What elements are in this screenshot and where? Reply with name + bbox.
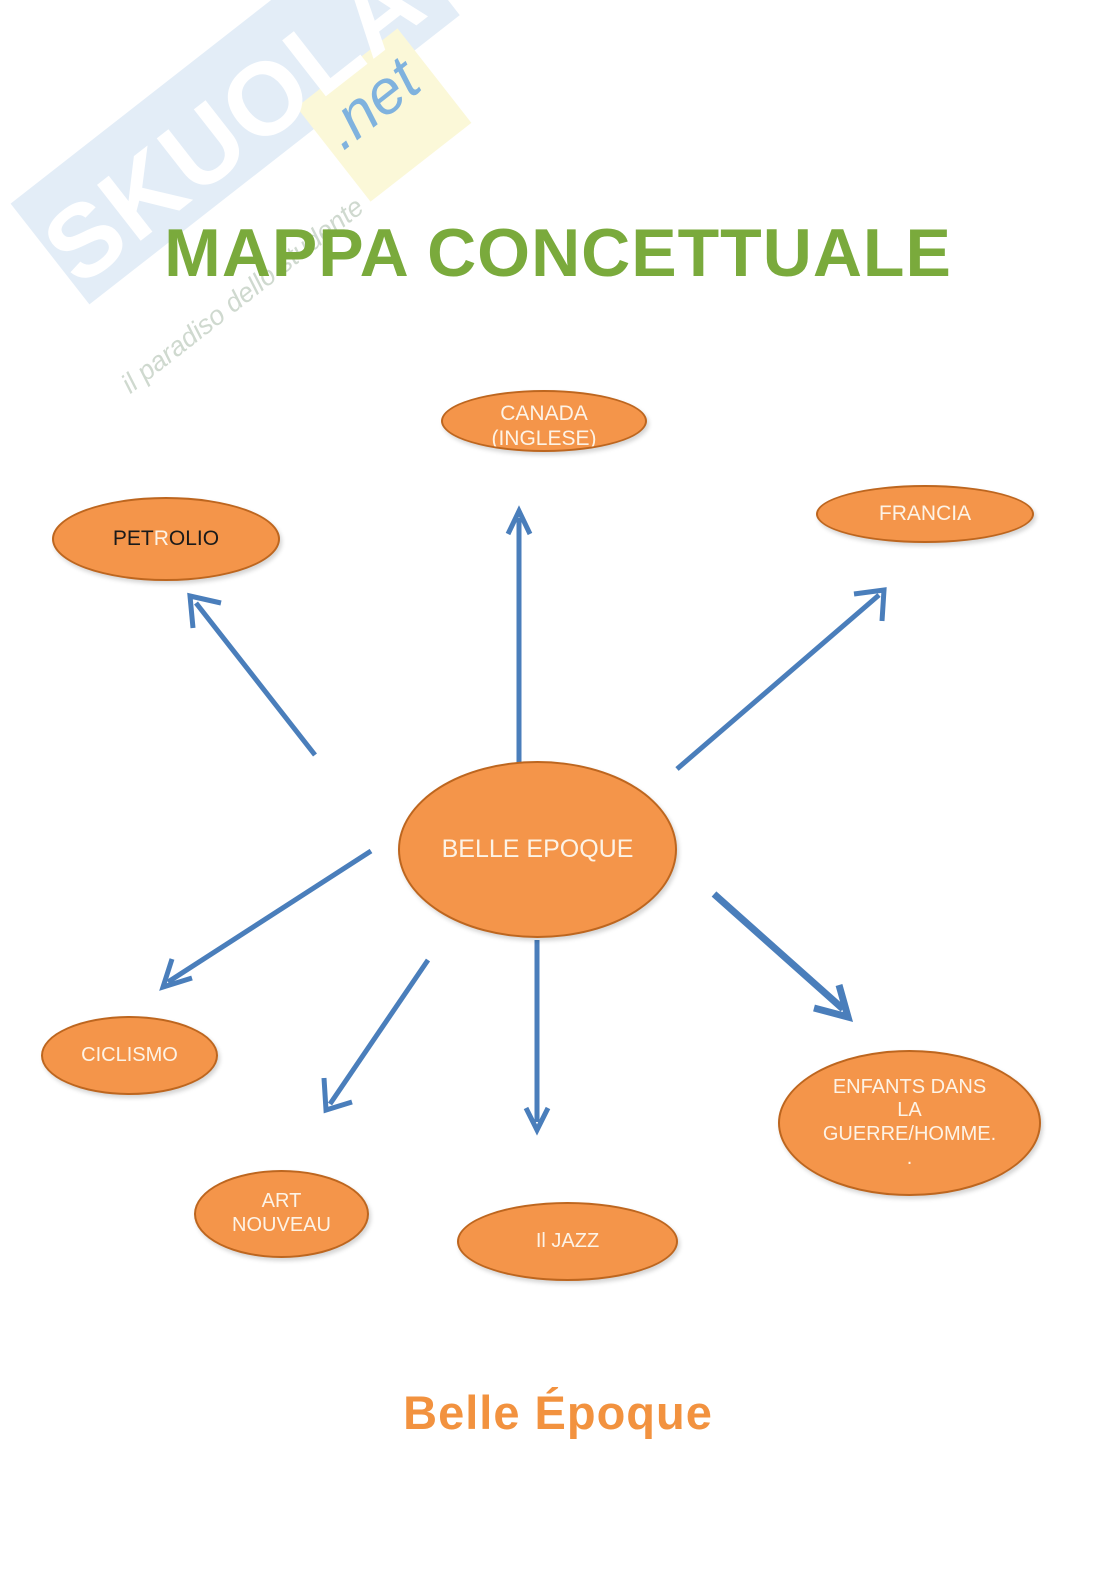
node-enfants-label: ENFANTS DANS LA GUERRE/HOMME. . (817, 1076, 1002, 1170)
node-art-nouveau[interactable]: ART NOUVEAU (194, 1170, 369, 1258)
node-enfants-line-4: . (907, 1147, 913, 1169)
node-petrolio[interactable]: PETROLIO (52, 497, 280, 581)
node-petrolio-label: PETROLIO (107, 527, 225, 552)
node-belle-epoque-label: BELLE EPOQUE (436, 835, 640, 865)
page-caption: Belle Époque (0, 1385, 1116, 1440)
node-enfants-line-3: GUERRE/HOMME. (823, 1123, 996, 1145)
node-art-nouveau-line-2: NOUVEAU (232, 1214, 331, 1236)
node-art-nouveau-label: ART NOUVEAU (226, 1190, 337, 1237)
node-ciclismo-label: CICLISMO (75, 1044, 184, 1068)
edge-belle-epoque-to-enfants (714, 894, 848, 1017)
edge-belle-epoque-to-il-jazz (526, 940, 548, 1130)
edge-belle-epoque-to-ciclismo (163, 851, 371, 987)
node-belle-epoque[interactable]: BELLE EPOQUE (398, 761, 677, 938)
node-canada[interactable]: CANADA (INGLESE) (441, 390, 647, 452)
node-canada-label: CANADA (INGLESE) (485, 402, 602, 452)
node-il-jazz[interactable]: Il JAZZ (457, 1202, 678, 1281)
node-francia[interactable]: FRANCIA (816, 485, 1034, 543)
node-art-nouveau-line-1: ART (262, 1190, 302, 1212)
node-francia-label: FRANCIA (873, 502, 977, 527)
edge-belle-epoque-to-petrolio (190, 596, 315, 755)
edge-belle-epoque-to-art-nouveau (324, 960, 428, 1110)
node-canada-line-1: CANADA (500, 402, 588, 425)
concept-map-page: SKUOLA .net il paradiso dello studente M… (0, 0, 1116, 1579)
node-canada-line-2: (INGLESE) (491, 427, 596, 450)
node-ciclismo[interactable]: CICLISMO (41, 1016, 218, 1095)
edge-belle-epoque-to-canada (508, 511, 530, 765)
edge-belle-epoque-to-francia (677, 590, 884, 769)
node-enfants-line-2: LA (897, 1099, 921, 1121)
node-enfants[interactable]: ENFANTS DANS LA GUERRE/HOMME. . (778, 1050, 1041, 1196)
node-il-jazz-label: Il JAZZ (530, 1230, 605, 1254)
node-enfants-line-1: ENFANTS DANS (833, 1076, 986, 1098)
